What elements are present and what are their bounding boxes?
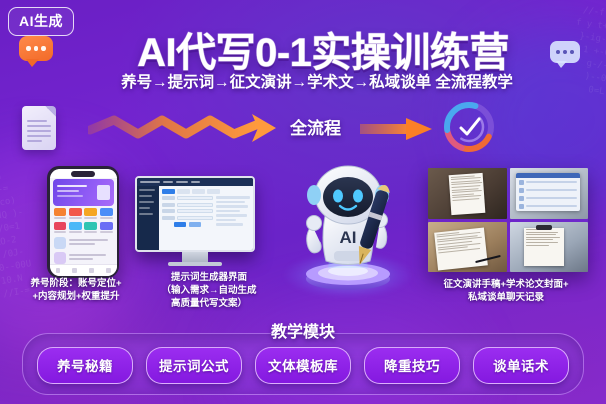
photo-hand-holding-document <box>428 168 507 219</box>
module-pill-3[interactable]: 降重技巧 <box>364 347 460 384</box>
phone-screen <box>50 169 117 276</box>
photo-clipboard-on-laptop <box>510 222 589 273</box>
poster-canvas: 0.a //-= (-co) )dQ )- O/0=1 RO-2 '/0J- 0… <box>0 0 606 404</box>
zigzag-arrow-icon <box>88 108 286 148</box>
modules-pill-list: 养号秘籍 提示词公式 文体模板库 降重技巧 谈单话术 <box>22 347 584 384</box>
module-pill-4[interactable]: 谈单话术 <box>473 347 569 384</box>
app-icon-grid <box>50 208 117 234</box>
app-content <box>159 186 253 250</box>
page-subtitle: 养号→提示词→征文演讲→学术文→私域谈单 全流程教学 <box>0 70 606 92</box>
form-buttons <box>162 222 213 227</box>
modules-title: 教学模块 <box>0 318 606 342</box>
monitor-stand <box>182 252 208 262</box>
ai-robot-mascot: AI <box>288 163 408 293</box>
list-item <box>54 252 113 264</box>
caption-photos: 征文演讲手稿+学术论文封面+ 私域谈单聊天记录 <box>410 278 602 304</box>
monitor-screen <box>135 176 255 252</box>
app-banner <box>53 179 114 206</box>
svg-text:AI: AI <box>340 228 357 247</box>
list-item <box>54 237 113 249</box>
phone-notch <box>71 171 95 177</box>
photo-chat-window-screenshot <box>510 168 589 219</box>
photo-grid <box>428 168 588 272</box>
caption-monitor: 提示词生成器界面 （输入需求→自动生成 高质量代写文案） <box>144 271 274 310</box>
app-titlebar <box>137 178 253 186</box>
desktop-monitor-mockup <box>135 176 255 266</box>
caption-phone: 养号阶段：账号定位+ +内容规划+权重提升 <box>8 277 144 303</box>
content-tabs <box>162 189 250 194</box>
phone-tab-bar <box>50 264 117 276</box>
module-pill-2[interactable]: 文体模板库 <box>255 347 351 384</box>
monitor-base <box>168 262 222 266</box>
module-pill-0[interactable]: 养号秘籍 <box>37 347 133 384</box>
app-sidebar <box>137 186 159 250</box>
photo-papers-on-desk <box>428 222 507 273</box>
module-pill-1[interactable]: 提示词公式 <box>146 347 242 384</box>
progress-ring-check-icon <box>440 98 498 156</box>
arrow-right-icon <box>360 116 434 142</box>
flow-label: 全流程 <box>290 114 341 139</box>
document-icon <box>22 106 56 150</box>
generator-form <box>162 196 213 247</box>
output-panel <box>216 196 250 247</box>
smartphone-mockup <box>47 166 119 278</box>
